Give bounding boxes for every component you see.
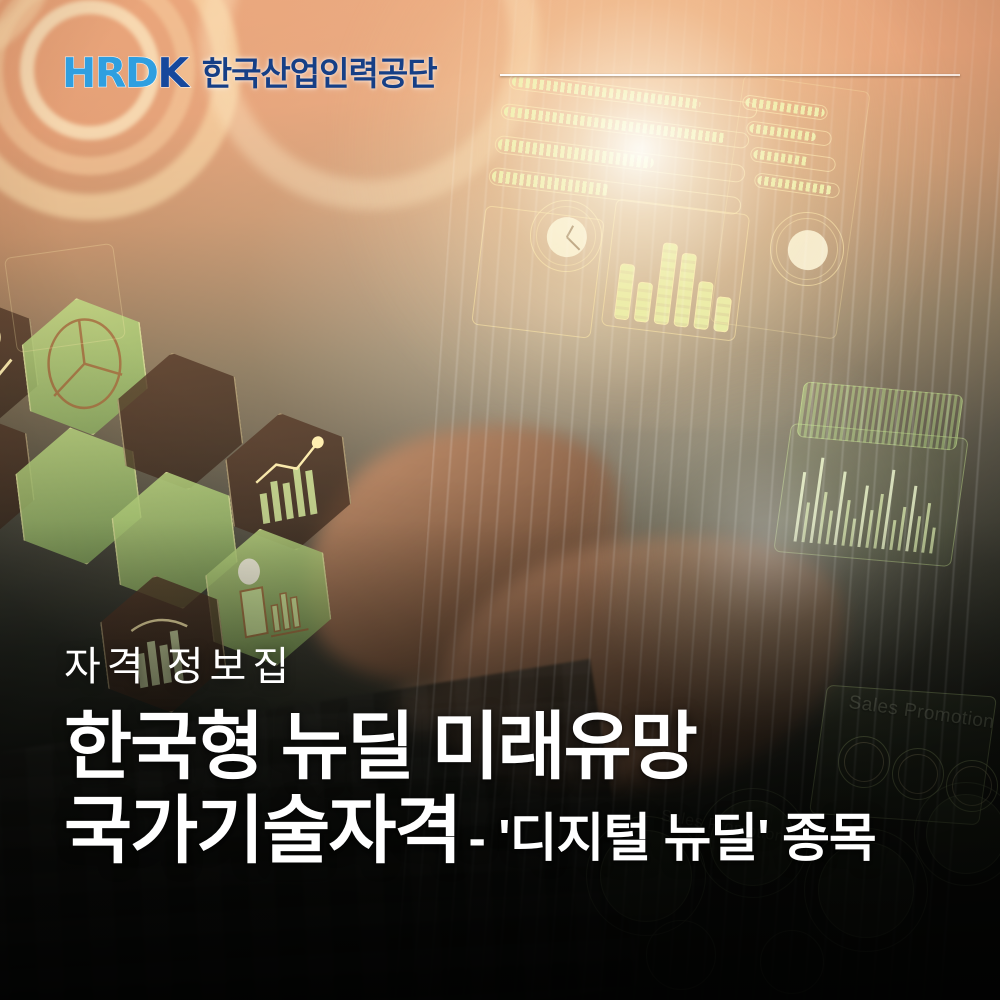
organization-name: 한국산업인력공단 <box>202 57 437 90</box>
promotional-card: Sales Promotion Sales Promotion <box>0 0 1000 1000</box>
headline-line-2-suffix: - '디지털 뉴딜' 종목 <box>468 810 875 869</box>
logomark-hrd: HRD <box>62 49 157 97</box>
eyebrow-label: 자격 정보집 <box>64 645 960 689</box>
title-block: 자격 정보집 한국형 뉴딜 미래유망 국가기술자격 - '디지털 뉴딜' 종목 <box>64 645 960 872</box>
hrdk-logomark: HRDK <box>62 53 188 94</box>
content-layer: HRDK 한국산업인력공단 자격 정보집 한국형 뉴딜 미래유망 국가기술자격 … <box>0 0 1000 1000</box>
headline-line-2: 국가기술자격 - '디지털 뉴딜' 종목 <box>64 789 960 873</box>
brand-logo[interactable]: HRDK 한국산업인력공단 <box>62 50 437 96</box>
header-divider-rule <box>500 74 960 76</box>
headline-line-1: 한국형 뉴딜 미래유망 <box>64 705 960 789</box>
logomark-k: K <box>157 49 187 97</box>
headline-line-2-main: 국가기술자격 <box>64 789 460 873</box>
